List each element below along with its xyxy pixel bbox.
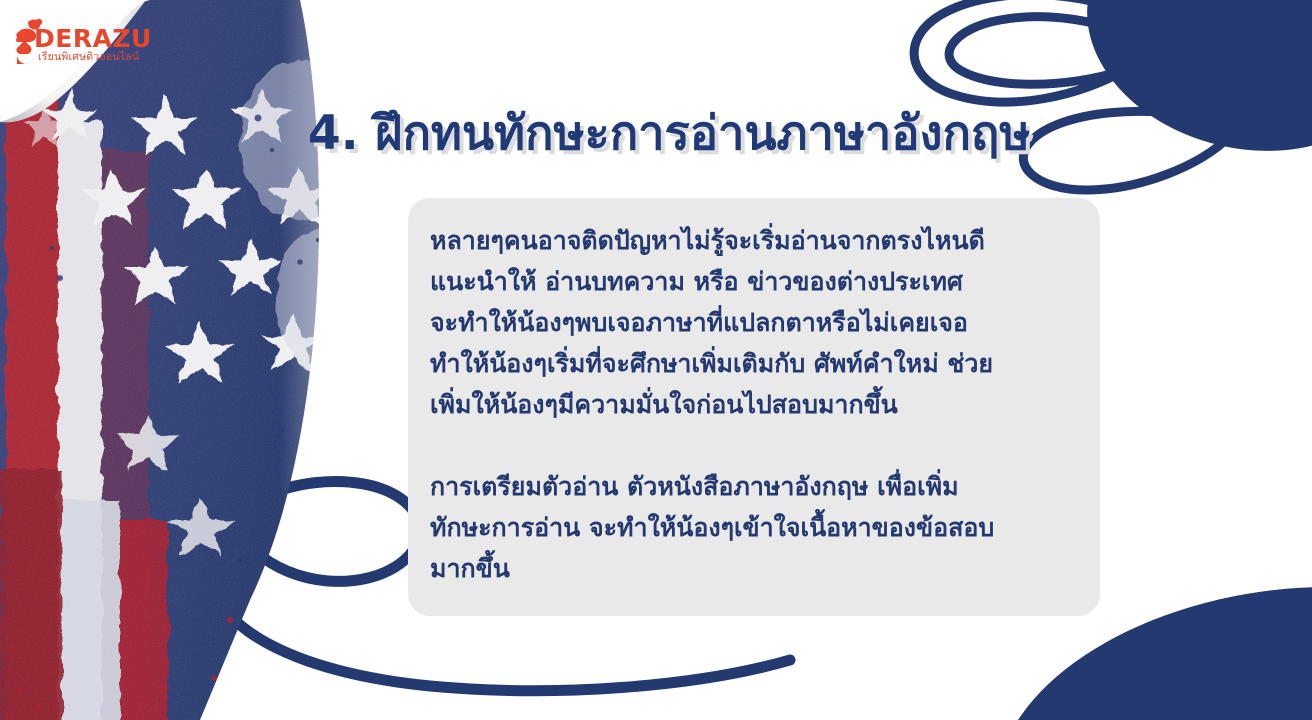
paragraph-line: เพิ่มให้น้องๆมีความมั่นใจก่อนไปสอบมากขึ้… xyxy=(430,384,1066,425)
paragraph-line: แนะนำให้ อ่านบทความ หรือ ข่าวของต่างประเ… xyxy=(430,261,1066,302)
content-card: หลายๆคนอาจติดปัญหาไม่รู้จะเริ่มอ่านจากตร… xyxy=(408,198,1100,616)
navy-ribbon-loop-top-right xyxy=(914,0,1180,102)
logo-wordmark: DERAZU xyxy=(34,26,152,51)
derazu-logo[interactable]: DERAZU เรียนพิเศษติวออนไลน์ xyxy=(8,12,188,70)
paragraph-1: หลายๆคนอาจติดปัญหาไม่รู้จะเริ่มอ่านจากตร… xyxy=(430,220,1066,425)
paragraph-2: การเตรียมตัวอ่าน ตัวหนังสือภาษาอังกฤษ เพ… xyxy=(430,466,1066,589)
slide-canvas: DERAZU เรียนพิเศษติวออนไลน์ 4. ฝึกทนทักษ… xyxy=(0,0,1312,720)
paragraph-line: ทำให้น้องๆเริ่มที่จะศึกษาเพิ่มเติมกับ ศั… xyxy=(430,343,1066,384)
paragraph-line: หลายๆคนอาจติดปัญหาไม่รู้จะเริ่มอ่านจากตร… xyxy=(430,220,1066,261)
paragraph-line: มากขึ้น xyxy=(430,548,1066,589)
page-title: 4. ฝึกทนทักษะการอ่านภาษาอังกฤษ xyxy=(308,104,1188,164)
paragraph-line: การเตรียมตัวอ่าน ตัวหนังสือภาษาอังกฤษ เพ… xyxy=(430,466,1066,507)
paragraph-line: ทักษะการอ่าน จะทำให้น้องๆเข้าใจเนื้อหาขอ… xyxy=(430,507,1066,548)
logo-tagline: เรียนพิเศษติวออนไลน์ xyxy=(38,52,139,63)
paragraph-line: จะทำให้น้องๆพบเจอภาษาที่แปลกตาหรือไม่เคย… xyxy=(430,302,1066,343)
